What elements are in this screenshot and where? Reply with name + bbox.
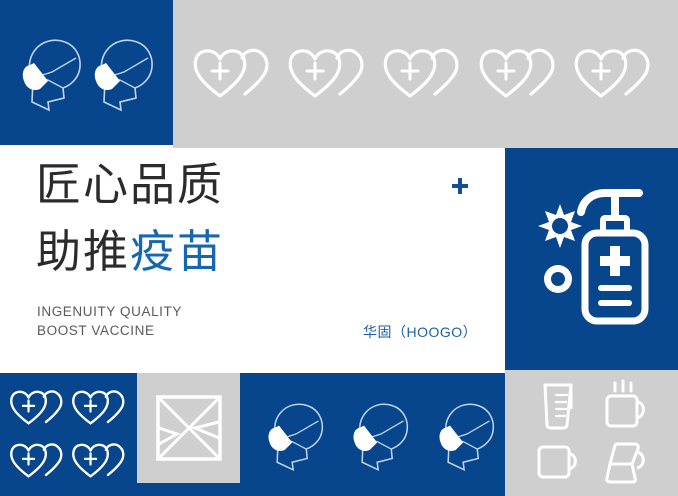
top-left-mask-panel: [0, 0, 173, 145]
headline-line-2-accent: 疫苗: [130, 226, 224, 277]
measuring-beaker-icon: [536, 379, 580, 431]
steaming-mug-icon: [601, 379, 649, 431]
english-subtitle: INGENUITY QUALITY BOOST VACCINE: [37, 302, 182, 340]
masked-face-icon: [349, 396, 411, 474]
double-heart-plus-icon: [9, 387, 69, 429]
masked-face-icon: [90, 32, 156, 114]
virus-germ-icon: [538, 204, 582, 248]
double-heart-plus-icon: [478, 46, 564, 102]
double-heart-plus-icon: [287, 46, 373, 102]
brand-name: 华固（HOOGO）: [363, 322, 477, 342]
pour-over-kettle-icon: [599, 438, 651, 486]
masked-face-icon: [264, 396, 326, 474]
broken-image-placeholder-tile: [137, 373, 240, 483]
double-heart-plus-icon: [382, 46, 468, 102]
double-heart-plus-icon: [9, 440, 69, 482]
broken-image-placeholder-icon: [155, 394, 223, 462]
masked-face-icon: [435, 396, 497, 474]
poster-canvas: 匠心品质 助推疫苗 INGENUITY QUALITY BOOST VACCIN…: [0, 0, 678, 496]
headline-line-2-dark: 助推: [36, 226, 130, 277]
mug-icon: [534, 439, 582, 485]
hand-sanitizer-bottle-icon: [525, 184, 659, 334]
bottom-mask-row: [248, 373, 513, 496]
sanitizer-panel: [505, 148, 678, 370]
double-heart-plus-icon: [573, 46, 659, 102]
headline-line-1: 匠心品质: [36, 158, 224, 212]
top-gray-heart-panel: [173, 0, 678, 148]
double-heart-plus-icon: [192, 46, 278, 102]
double-heart-plus-icon: [71, 387, 131, 429]
bottom-hearts-grid: [8, 381, 132, 488]
accent-plus-icon: [450, 176, 470, 196]
double-heart-plus-icon: [71, 440, 131, 482]
bottom-gray-kitchenware-panel: [505, 370, 678, 496]
masked-face-icon: [18, 32, 84, 114]
bottom-blue-band: [0, 373, 505, 496]
headline-line-2: 助推疫苗: [36, 225, 224, 279]
virus-dot-icon: [544, 265, 572, 293]
